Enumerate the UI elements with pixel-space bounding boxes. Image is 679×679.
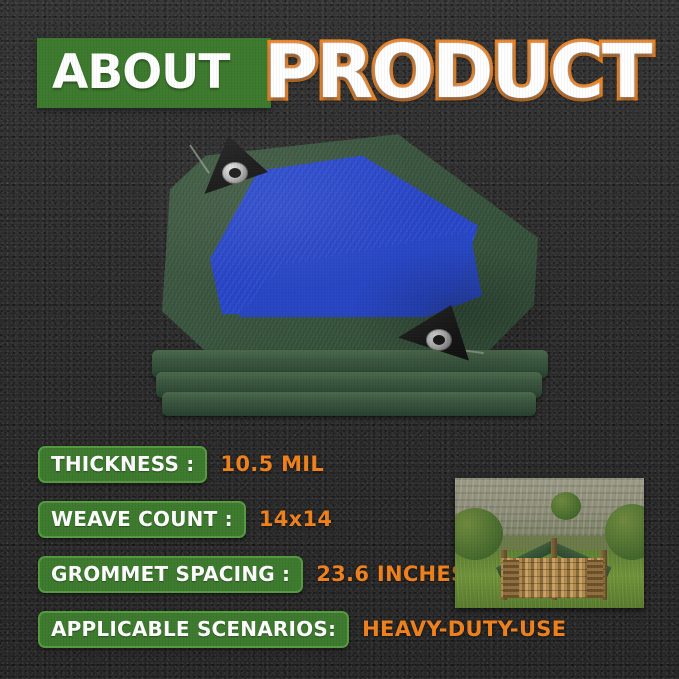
spec-label-applicable-scenarios: APPLICABLE SCENARIOS: [38, 611, 349, 648]
header-title-product: PRODUCT [264, 26, 650, 118]
log-stack-right [587, 560, 603, 598]
grommet-icon [426, 329, 452, 351]
spec-value-thickness: 10.5 MIL [220, 452, 324, 476]
spec-value-applicable-scenarios: HEAVY-DUTY-USE [362, 617, 566, 641]
header-title-about: ABOUT [52, 44, 262, 102]
tarp-fold-layer-3 [162, 392, 536, 416]
log-stack-left [503, 560, 519, 598]
spec-value-weave-count: 14x14 [259, 507, 333, 531]
bush-center [551, 492, 581, 520]
tarp-corner-bottom-right [398, 305, 472, 363]
spec-label-grommet-spacing: GROMMET SPACING : [38, 556, 303, 593]
use-case-photo [455, 478, 644, 608]
page-header: ABOUT PRODUCT [0, 24, 679, 120]
product-photo-tarp [150, 122, 550, 427]
spec-row-applicable-scenarios: APPLICABLE SCENARIOS: HEAVY-DUTY-USE [38, 608, 638, 650]
grommet-icon [222, 162, 248, 184]
spec-label-thickness: THICKNESS : [38, 446, 207, 483]
tarp-corner-top-left [194, 136, 268, 194]
spec-label-weave-count: WEAVE COUNT : [38, 501, 246, 538]
spec-value-grommet-spacing: 23.6 INCHES [316, 562, 466, 586]
about-product-infographic: ABOUT PRODUCT THICKNESS : 10.5 MIL WEAVE… [0, 0, 679, 679]
